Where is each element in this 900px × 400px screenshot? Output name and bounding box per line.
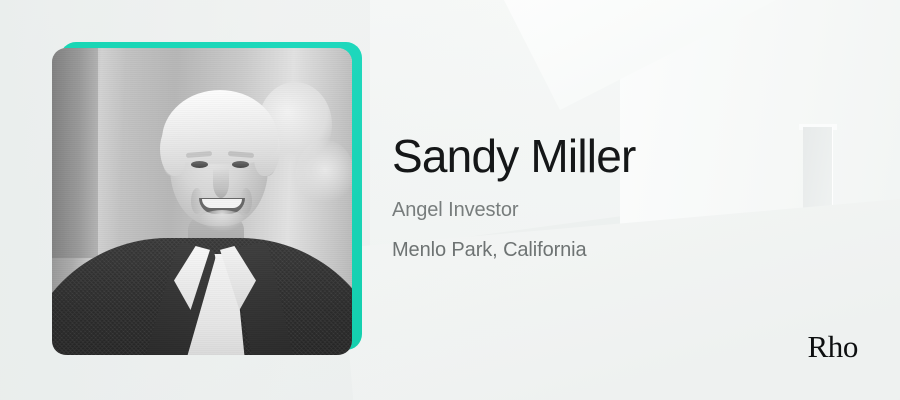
portrait-eye-left [191, 161, 208, 168]
portrait-teeth [202, 199, 242, 208]
portrait-photo [52, 48, 352, 355]
portrait-nose [213, 168, 229, 198]
portrait-bokeh-b [296, 140, 352, 206]
portrait-backdrop-column [52, 48, 98, 258]
portrait-eye-right [232, 161, 249, 168]
portrait-container [52, 42, 362, 355]
person-location: Menlo Park, California [392, 238, 812, 262]
profile-card: Sandy Miller Angel Investor Menlo Park, … [0, 0, 900, 400]
person-name: Sandy Miller [392, 132, 812, 182]
rho-logo: Rho [808, 331, 858, 362]
profile-info: Sandy Miller Angel Investor Menlo Park, … [392, 132, 812, 262]
portrait-chin [198, 210, 246, 232]
person-role: Angel Investor [392, 198, 812, 222]
portrait-frame [52, 48, 352, 355]
